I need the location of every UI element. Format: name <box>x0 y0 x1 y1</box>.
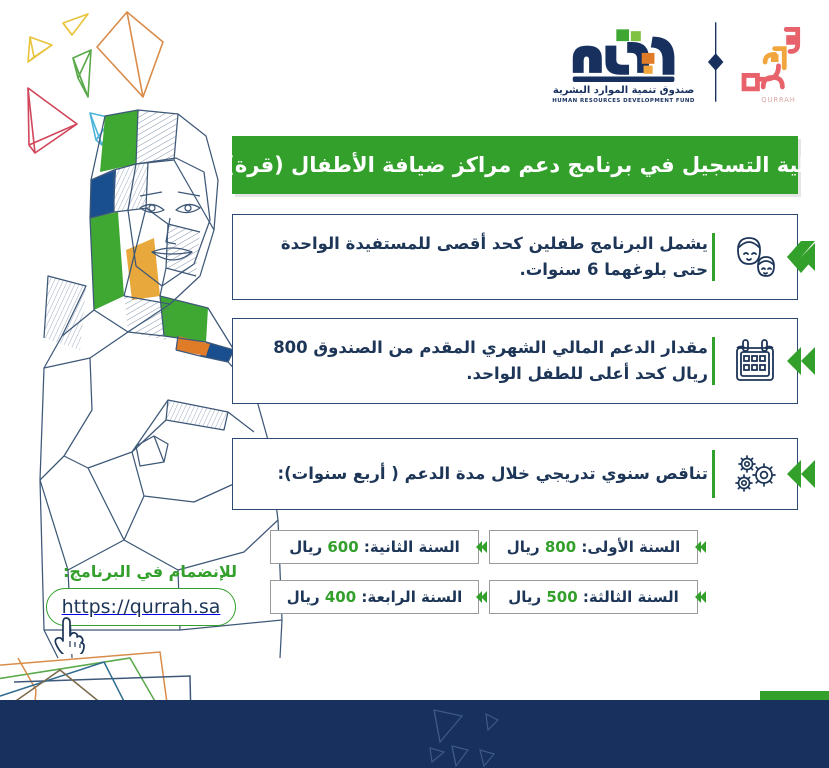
hrdf-logo-english: HUMAN RESOURCES DEVELOPMENT FUND <box>552 98 695 104</box>
row-chevron-1-icon <box>786 240 816 274</box>
row-divider <box>712 233 715 281</box>
year-box-2-label: السنة الثانية: 600 ريال <box>289 538 460 556</box>
year-box-1-label: السنة الأولى: 800 ريال <box>507 538 681 556</box>
year-box-first: السنة الأولى: 800 ريال <box>489 530 698 564</box>
info-row-children-limit: يشمل البرنامج طفلين كحد أقصى للمستفيدة ا… <box>232 214 798 300</box>
logo-divider <box>706 19 725 105</box>
year-box-1-currency: ريال <box>507 538 540 556</box>
two-children-faces-icon <box>727 230 783 284</box>
year-box-second: السنة الثانية: 600 ريال <box>270 530 479 564</box>
year-box-2-currency: ريال <box>289 538 322 556</box>
calendar-icon <box>727 334 783 388</box>
row-divider <box>712 337 715 385</box>
year-box-4-currency: ريال <box>287 588 320 606</box>
year-box-third: السنة الثالثة: 500 ريال <box>489 580 698 614</box>
info-row-annual-decrease: تناقص سنوي تدريجي خلال مدة الدعم ( أربع … <box>232 438 798 510</box>
join-program-label: للإنضمام في البرنامج: <box>60 562 240 581</box>
qurrah-logo: QURRAH <box>736 16 811 108</box>
year-chevron-4-icon <box>475 589 487 605</box>
year-box-fourth: السنة الرابعة: 400 ريال <box>270 580 479 614</box>
header-logo-bar: صندوق تنمية الموارد البشرية HUMAN RESOUR… <box>551 12 811 112</box>
qurrah-logo-caption: QURRAH <box>761 96 796 104</box>
hrdf-logo-arabic: صندوق تنمية الموارد البشرية <box>553 85 694 96</box>
info-row-2-text: مقدار الدعم المالي الشهري المقدم من الصن… <box>251 335 708 386</box>
year-box-1-amount: 800 <box>545 538 576 556</box>
row-chevron-2-icon <box>786 344 816 378</box>
footer-decorative-triangles <box>420 704 530 768</box>
hrdf-logo: صندوق تنمية الموارد البشرية HUMAN RESOUR… <box>551 16 696 108</box>
year-box-3-amount: 500 <box>546 588 577 606</box>
year-box-2-title: السنة الثانية: <box>364 538 460 556</box>
info-row-1-text: يشمل البرنامج طفلين كحد أقصى للمستفيدة ا… <box>251 231 708 282</box>
main-title-bar: آلية التسجيل في برنامج دعم مراكز ضيافة ا… <box>232 136 798 194</box>
row-divider <box>712 450 715 498</box>
infographic-page: صندوق تنمية الموارد البشرية HUMAN RESOUR… <box>0 0 829 768</box>
year-box-4-title: السنة الرابعة: <box>361 588 462 606</box>
pointing-hand-cursor-icon <box>53 614 87 654</box>
page-title: آلية التسجيل في برنامج دعم مراكز ضيافة ا… <box>217 153 813 177</box>
info-row-3-text: تناقص سنوي تدريجي خلال مدة الدعم ( أربع … <box>251 461 708 487</box>
year-box-4-label: السنة الرابعة: 400 ريال <box>287 588 463 606</box>
year-box-4-amount: 400 <box>325 588 356 606</box>
info-row-monthly-support: مقدار الدعم المالي الشهري المقدم من الصن… <box>232 318 798 404</box>
year-box-3-currency: ريال <box>508 588 541 606</box>
year-box-2-amount: 600 <box>327 538 358 556</box>
gears-icon <box>727 447 783 501</box>
footer-bar: برنامج دعم مراكز ضيافة الأطفال (قرة) 920… <box>0 700 829 768</box>
year-box-3-title: السنة الثالثة: <box>583 588 679 606</box>
year-box-1-title: السنة الأولى: <box>581 538 680 556</box>
year-chevron-2-icon <box>475 539 487 555</box>
year-chevron-3-icon <box>694 589 706 605</box>
year-chevron-1-icon <box>694 539 706 555</box>
year-box-3-label: السنة الثالثة: 500 ريال <box>508 588 679 606</box>
row-chevron-3-icon <box>786 457 816 491</box>
